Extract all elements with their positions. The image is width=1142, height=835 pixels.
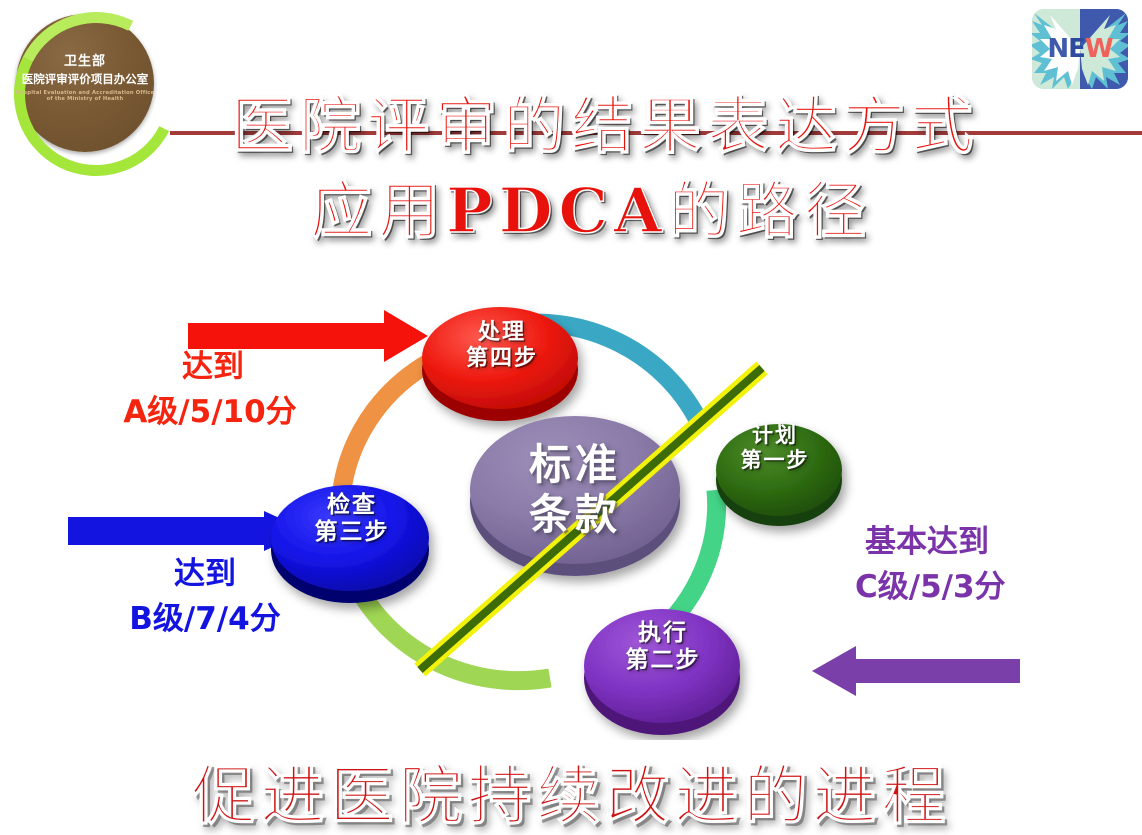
slide-footer-text: 促进医院持续改进的进程 [0, 745, 1142, 835]
pdca-node-core [470, 416, 680, 576]
grade-b-line2: B级/7/4分 [110, 597, 300, 642]
new-letter-w: W [1085, 34, 1113, 64]
grade-c-label: 基本达到 C级/5/3分 [855, 520, 1105, 610]
pdca-node-do [584, 609, 740, 735]
new-badge-label: NEW [1032, 34, 1128, 64]
new-letter-e: E [1068, 34, 1085, 64]
new-letter-n: N [1047, 34, 1068, 64]
grade-a-label: 达到 A级/5/10分 [120, 345, 300, 435]
slide-canvas: 卫生部 医院评审评价项目办公室 Hospital Evaluation and … [0, 0, 1142, 835]
grade-a-line2: A级/5/10分 [120, 390, 300, 435]
grade-a-line1: 达到 [126, 345, 300, 390]
pdca-node-act [422, 307, 578, 421]
grade-c-line2: C级/5/3分 [855, 565, 1105, 610]
slide-title-line-1: 医院评审的结果表达方式 [34, 75, 1142, 165]
pdca-cycle-diagram [250, 280, 900, 740]
slide-title-line-2: 应用PDCA的路径 [20, 160, 1142, 250]
grade-b-label: 达到 B级/7/4分 [110, 552, 300, 642]
grade-c-line1: 基本达到 [865, 520, 1105, 565]
grade-b-line1: 达到 [110, 552, 300, 597]
pdca-node-plan [716, 424, 842, 526]
